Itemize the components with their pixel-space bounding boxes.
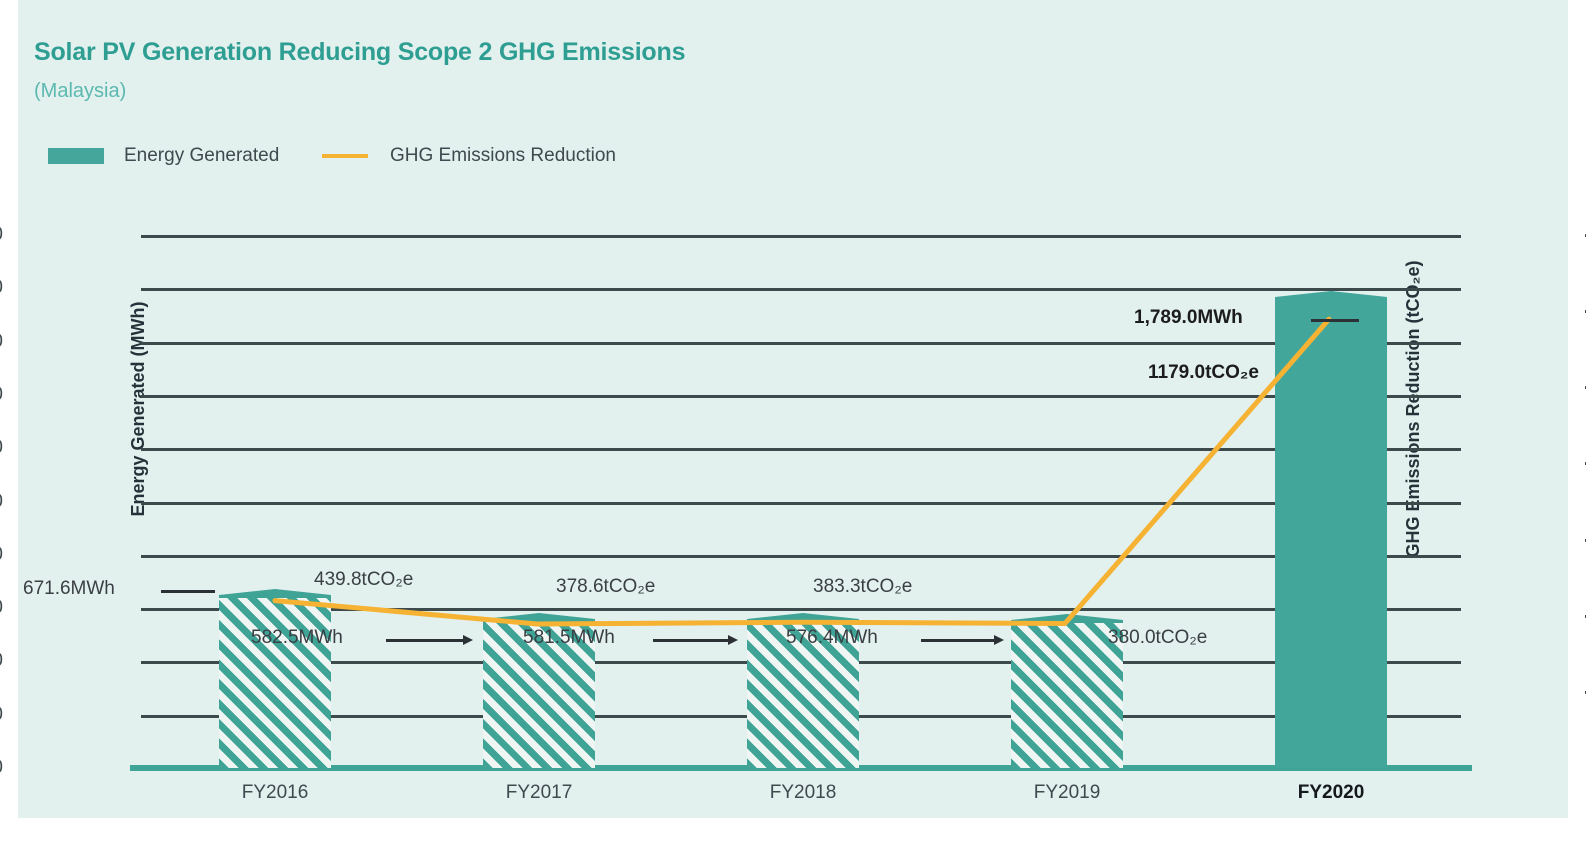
y-tick-left-2000: 2000 (0, 224, 3, 246)
legend-item-ghg-emissions-reduction[interactable]: GHG Emissions Reduction (322, 140, 616, 172)
x-label-fy2016: FY2016 (175, 782, 375, 804)
line-label-fy2020: 1179.0tCO₂e (1148, 362, 1259, 384)
chart-title: Solar PV Generation Reducing Scope 2 GHG… (34, 38, 685, 67)
y-tick-left-1000: 1000 (0, 491, 3, 513)
y-tick-left-1200: 1200 (0, 437, 3, 459)
bar-leader-fy2020 (1311, 319, 1359, 322)
x-label-fy2017: FY2017 (439, 782, 639, 804)
y-tick-left-1800: 1800 (0, 277, 3, 299)
bar-leader-fy2017 (386, 639, 464, 642)
bar-leader-fy2016 (161, 590, 215, 593)
legend-item-energy-generated[interactable]: Energy Generated (48, 140, 279, 172)
bar-leader-fy2018 (653, 639, 729, 642)
line-label-fy2018: 383.3tCO₂e (813, 576, 912, 598)
chart-subtitle: (Malaysia) (34, 80, 126, 103)
bar-label-fy2018: 581.5MWh (523, 627, 615, 649)
line-label-fy2017: 378.6tCO₂e (556, 576, 655, 598)
y-tick-left-0: 0 (0, 757, 3, 779)
bar-label-fy2016: 671.6MWh (23, 578, 115, 600)
chart-figure: Solar PV Generation Reducing Scope 2 GHG… (18, 0, 1568, 818)
x-label-fy2018: FY2018 (703, 782, 903, 804)
line-label-fy2016: 439.8tCO₂e (314, 569, 413, 591)
ghg-line-series (141, 235, 1461, 768)
bar-leader-fy2019 (921, 639, 995, 642)
bar-label-fy2017: 582.5MWh (251, 627, 343, 649)
y-tick-left-200: 200 (0, 704, 3, 726)
y-tick-left-600: 600 (0, 597, 3, 619)
legend-label-ghg-emissions-reduction: GHG Emissions Reduction (390, 145, 616, 167)
legend-bar-swatch-icon (48, 148, 104, 164)
y-tick-left-1600: 1600 (0, 331, 3, 353)
plot-area: 2000 1800 1600 1400 1200 1000 800 600 40… (141, 235, 1461, 768)
y-tick-left-1400: 1400 (0, 384, 3, 406)
x-label-fy2019: FY2019 (967, 782, 1167, 804)
line-label-fy2019: 380.0tCO₂e (1108, 627, 1207, 649)
y-tick-left-800: 800 (0, 544, 3, 566)
x-label-fy2020: FY2020 (1231, 782, 1431, 804)
y-tick-left-400: 400 (0, 650, 3, 672)
bar-label-fy2019: 576.4MWh (786, 627, 878, 649)
legend-label-energy-generated: Energy Generated (124, 145, 279, 167)
legend-line-swatch-icon (322, 154, 368, 158)
bar-label-fy2020: 1,789.0MWh (1134, 307, 1243, 329)
